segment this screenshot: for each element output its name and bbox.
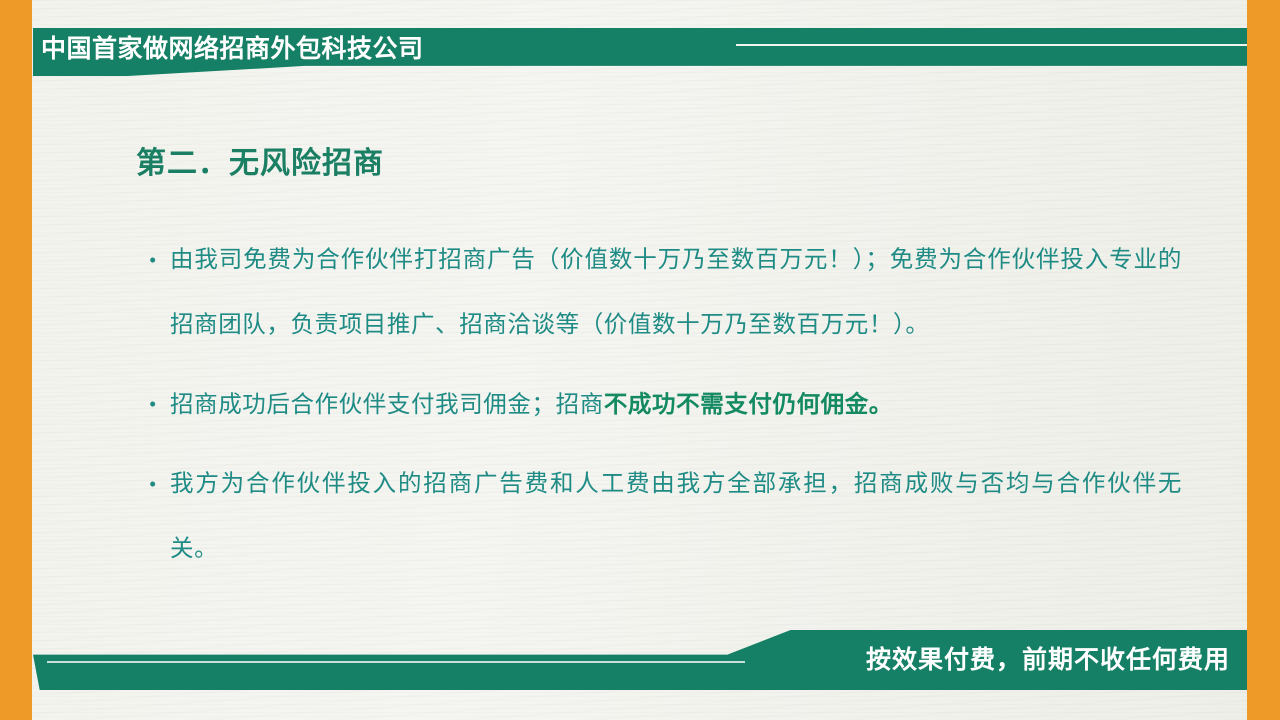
header-rule-icon	[736, 44, 1247, 46]
list-item: • 我方为合作伙伴投入的招商广告费和人工费由我方全部承担，招商成败与否均与合作伙…	[142, 452, 1182, 582]
bullet-marker-icon: •	[148, 372, 158, 437]
bullet-marker-icon: •	[148, 228, 158, 293]
list-item-text: 我方为合作伙伴投入的招商广告费和人工费由我方全部承担，招商成败与否均与合作伙伴无…	[170, 471, 1182, 562]
footer-rule-icon	[47, 661, 745, 663]
page-title: 第二．无风险招商	[136, 138, 384, 182]
list-item-text: 由我司免费为合作伙伴打招商广告（价值数十万乃至数百万元！）；免费为合作伙伴投入专…	[170, 247, 1182, 338]
list-item-emphasis: 不成功不需支付仍何佣金。	[604, 391, 893, 417]
bullet-list: • 由我司免费为合作伙伴打招商广告（价值数十万乃至数百万元！）；免费为合作伙伴投…	[142, 228, 1182, 596]
list-item-text: 招商成功后合作伙伴支付我司佣金；招商	[170, 392, 604, 418]
footer-tagline: 按效果付费，前期不收任何费用	[866, 643, 1230, 677]
list-item: • 由我司免费为合作伙伴打招商广告（价值数十万乃至数百万元！）；免费为合作伙伴投…	[142, 228, 1182, 358]
bullet-marker-icon: •	[148, 452, 158, 517]
list-item: • 招商成功后合作伙伴支付我司佣金；招商不成功不需支付仍何佣金。	[142, 372, 1182, 438]
header-title: 中国首家做网络招商外包科技公司	[41, 33, 424, 65]
presentation-slide: 中国首家做网络招商外包科技公司 第二．无风险招商 • 由我司免费为合作伙伴打招商…	[0, 0, 1280, 720]
